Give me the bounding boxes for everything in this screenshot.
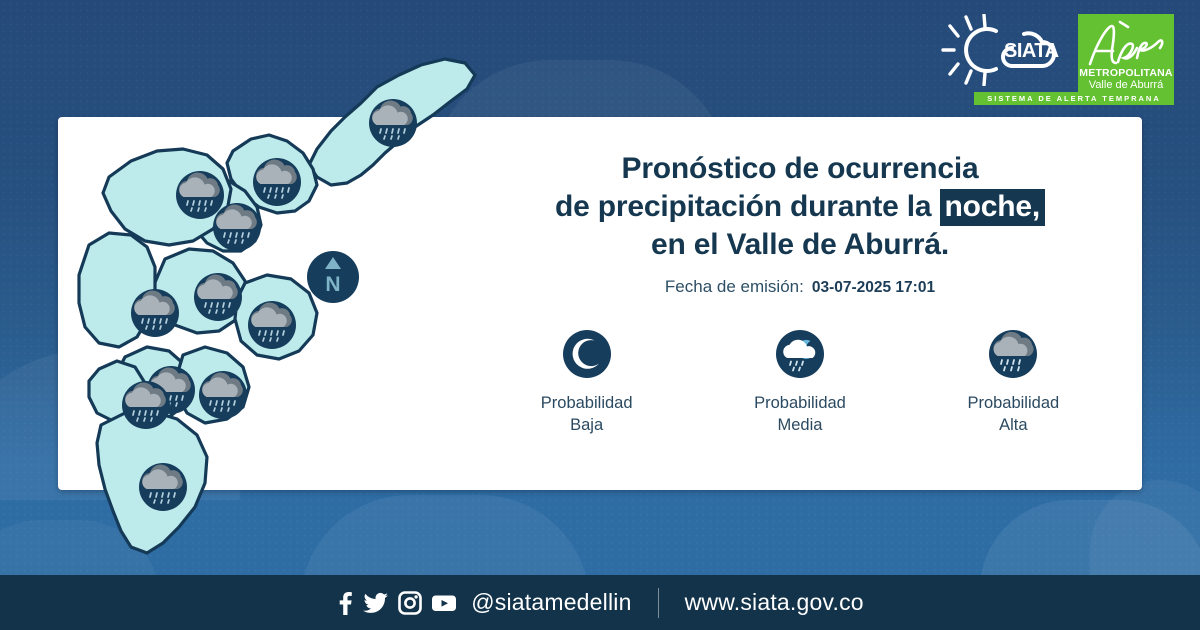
area-script-icon [1082,18,1170,70]
probability-legend: Probabilidad Baja Probabilidad Media [480,328,1120,437]
youtube-icon[interactable] [431,591,457,615]
cloud-rain-icon [987,328,1039,380]
instagram-icon[interactable] [398,591,422,615]
footer-divider [658,588,659,618]
title-line-1: Pronóstico de ocurrencia [480,150,1120,188]
area-metropolitana-logo: METROPOLITANA Valle de Aburrá [1078,14,1174,102]
legend-alta-line1: Probabilidad [967,394,1059,412]
am-line1: METROPOLITANA [1079,68,1172,79]
title-line-2-text: de precipitación durante la [555,190,931,223]
siata-tagline-banner: SISTEMA DE ALERTA TEMPRANA [974,92,1174,105]
legend-alta-line2: Alta [999,416,1027,434]
legend-item-alta: Probabilidad Alta [923,328,1103,437]
cloud-moon-rain-icon [774,328,826,380]
infographic-canvas: SIATA METROPOLITANA Valle de Aburrá SIST… [0,0,1200,630]
legend-media-line1: Probabilidad [754,394,846,412]
website-url[interactable]: www.siata.gov.co [685,589,864,616]
legend-caption-media: Probabilidad Media [754,392,846,437]
legend-item-media: Probabilidad Media [710,328,890,437]
siata-logo: SIATA [938,14,1068,86]
legend-caption-alta: Probabilidad Alta [967,392,1059,437]
legend-item-baja: Probabilidad Baja [497,328,677,437]
legend-baja-line2: Baja [570,416,603,434]
title-highlight-noche: noche, [940,189,1045,226]
social-handle[interactable]: @siatamedellin [471,589,631,616]
emission-date-value: 03-07-2025 17:01 [812,279,935,297]
title-line-2: de precipitación durante la noche, [480,188,1120,226]
social-icons [336,591,457,615]
facebook-icon[interactable] [336,591,354,615]
background-cloud-icon [1090,480,1200,590]
logo-group: SIATA METROPOLITANA Valle de Aburrá [938,14,1174,102]
page-title: Pronóstico de ocurrencia de precipitació… [480,150,1120,263]
emission-date: Fecha de emisión: 03-07-2025 17:01 [480,277,1120,297]
moon-icon [561,328,613,380]
svg-text:SIATA: SIATA [1004,40,1059,62]
legend-caption-baja: Probabilidad Baja [541,392,633,437]
headline-block: Pronóstico de ocurrencia de precipitació… [480,150,1120,297]
footer-bar: @siatamedellin www.siata.gov.co [0,575,1200,630]
twitter-icon[interactable] [363,591,389,615]
emission-date-label: Fecha de emisión: [665,277,804,297]
am-line2: Valle de Aburrá [1089,79,1163,92]
legend-baja-line1: Probabilidad [541,394,633,412]
legend-media-line2: Media [778,416,823,434]
title-line-3: en el Valle de Aburrá. [480,226,1120,264]
